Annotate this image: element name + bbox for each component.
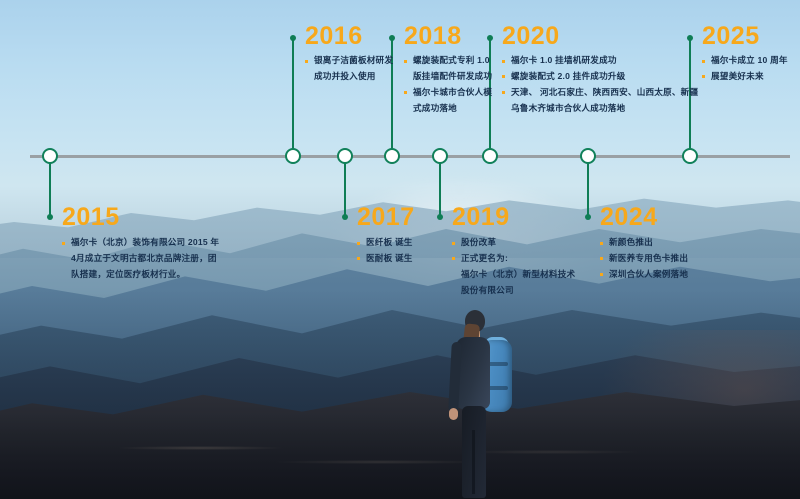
fact-item: 版挂墙配件研发成功 — [404, 70, 492, 84]
timeline-entry-2015[interactable]: 2015福尔卡（北京）装饰有限公司 2015 年4月成立于文明古都北京品牌注册，… — [62, 205, 219, 284]
timeline-entry-2024[interactable]: 2024新颜色推出新医养专用色卡推出深圳合伙人案例落地 — [600, 205, 688, 284]
timeline-stem-2016 — [292, 38, 294, 155]
timeline-entry-2025[interactable]: 2025福尔卡成立 10 周年展望美好未来 — [702, 24, 788, 86]
timeline-node-2024[interactable] — [580, 148, 596, 164]
fact-item: 股份改革 — [452, 236, 575, 250]
fact-list-2016: 银离子洁菌板材研发成功并投入使用 — [305, 54, 393, 84]
year-label-2024: 2024 — [600, 205, 688, 230]
year-label-2017: 2017 — [357, 205, 415, 230]
year-label-2019: 2019 — [452, 205, 575, 230]
fact-item: 正式更名为: — [452, 252, 575, 266]
fact-item: 式成功落地 — [404, 102, 492, 116]
fact-item: 医纤板 诞生 — [357, 236, 415, 250]
fact-list-2020: 福尔卡 1.0 挂墙机研发成功螺旋装配式 2.0 挂件成功升级天津、 河北石家庄… — [502, 54, 698, 116]
fact-item: 股份有限公司 — [452, 284, 575, 298]
fact-item: 福尔卡成立 10 周年 — [702, 54, 788, 68]
year-label-2025: 2025 — [702, 24, 788, 49]
timeline-node-2018[interactable] — [384, 148, 400, 164]
photo-vignette — [0, 290, 800, 499]
timeline-node-2019[interactable] — [432, 148, 448, 164]
year-label-2016: 2016 — [305, 24, 393, 49]
fact-item: 银离子洁菌板材研发 — [305, 54, 393, 68]
timeline-infographic: 2015福尔卡（北京）装饰有限公司 2015 年4月成立于文明古都北京品牌注册，… — [0, 0, 800, 499]
fact-item: 福尔卡 1.0 挂墙机研发成功 — [502, 54, 698, 68]
timeline-entry-2019[interactable]: 2019股份改革正式更名为:福尔卡（北京）新型材料技术股份有限公司 — [452, 205, 575, 300]
timeline-stem-cap-2016 — [290, 35, 296, 41]
timeline-node-2017[interactable] — [337, 148, 353, 164]
timeline-entry-2017[interactable]: 2017医纤板 诞生医耐板 诞生 — [357, 205, 415, 268]
fact-list-2024: 新颜色推出新医养专用色卡推出深圳合伙人案例落地 — [600, 236, 688, 282]
fact-item: 福尔卡（北京）装饰有限公司 2015 年 — [62, 236, 219, 250]
fact-item: 福尔卡（北京）新型材料技术 — [452, 268, 575, 282]
fact-item: 螺旋装配式 2.0 挂件成功升级 — [502, 70, 698, 84]
year-label-2020: 2020 — [502, 24, 698, 49]
fact-list-2025: 福尔卡成立 10 周年展望美好未来 — [702, 54, 788, 84]
fact-item: 螺旋装配式专利 1.0 — [404, 54, 492, 68]
timeline-node-2020[interactable] — [482, 148, 498, 164]
timeline-node-2025[interactable] — [682, 148, 698, 164]
fact-item: 乌鲁木齐城市合伙人成功落地 — [502, 102, 698, 116]
fact-item: 天津、 河北石家庄、陕西西安、山西太原、新疆 — [502, 86, 698, 100]
timeline-stem-cap-2024 — [585, 214, 591, 220]
timeline-stem-2015 — [49, 155, 51, 217]
fact-item: 福尔卡城市合伙人模 — [404, 86, 492, 100]
fact-item: 队搭建，定位医疗板材行业。 — [62, 268, 219, 282]
fact-list-2015: 福尔卡（北京）装饰有限公司 2015 年4月成立于文明古都北京品牌注册，团队搭建… — [62, 236, 219, 282]
timeline-stem-cap-2017 — [342, 214, 348, 220]
fact-item: 医耐板 诞生 — [357, 252, 415, 266]
fact-item: 4月成立于文明古都北京品牌注册，团 — [62, 252, 219, 266]
fact-item: 新颜色推出 — [600, 236, 688, 250]
fact-list-2017: 医纤板 诞生医耐板 诞生 — [357, 236, 415, 266]
hiker-figure — [440, 310, 520, 499]
timeline-stem-2024 — [587, 155, 589, 217]
fact-list-2018: 螺旋装配式专利 1.0版挂墙配件研发成功福尔卡城市合伙人模式成功落地 — [404, 54, 492, 116]
hiker-hand — [449, 408, 458, 420]
fact-item: 成功并投入使用 — [305, 70, 393, 84]
year-label-2015: 2015 — [62, 205, 219, 230]
timeline-stem-cap-2015 — [47, 214, 53, 220]
timeline-stem-2019 — [439, 155, 441, 217]
fact-item: 深圳合伙人案例落地 — [600, 268, 688, 282]
timeline-node-2016[interactable] — [285, 148, 301, 164]
timeline-stem-cap-2019 — [437, 214, 443, 220]
timeline-entry-2016[interactable]: 2016银离子洁菌板材研发成功并投入使用 — [305, 24, 393, 86]
fact-item: 展望美好未来 — [702, 70, 788, 84]
year-label-2018: 2018 — [404, 24, 492, 49]
timeline-entry-2018[interactable]: 2018螺旋装配式专利 1.0版挂墙配件研发成功福尔卡城市合伙人模式成功落地 — [404, 24, 492, 118]
fact-list-2019: 股份改革正式更名为:福尔卡（北京）新型材料技术股份有限公司 — [452, 236, 575, 298]
timeline-axis — [30, 155, 790, 158]
fact-item: 新医养专用色卡推出 — [600, 252, 688, 266]
timeline-node-2015[interactable] — [42, 148, 58, 164]
timeline-stem-2017 — [344, 155, 346, 217]
hiker-leg-gap — [472, 430, 475, 494]
timeline-entry-2020[interactable]: 2020福尔卡 1.0 挂墙机研发成功螺旋装配式 2.0 挂件成功升级天津、 河… — [502, 24, 698, 118]
